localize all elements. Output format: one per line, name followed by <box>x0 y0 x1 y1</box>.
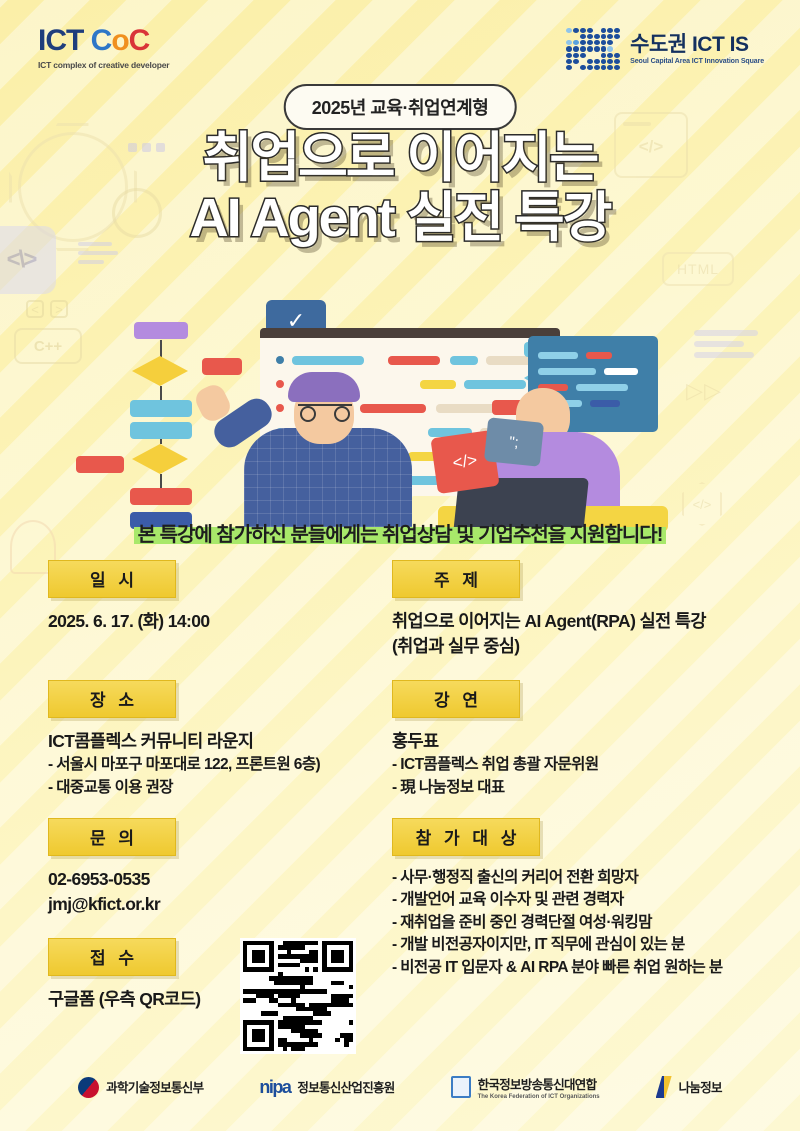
contact-email[interactable]: jmj@kfict.or.kr <box>48 892 176 917</box>
code-card-2-icon: "; <box>484 417 544 467</box>
value-datetime: 2025. 6. 17. (화) 14:00 <box>48 609 209 634</box>
program-badge: 2025년 교육·취업연계형 <box>284 84 517 130</box>
sponsor-kfict-en: The Korea Federation of ICT Organization… <box>478 1094 600 1100</box>
logo-ict-is-title: 수도권 ICT IS <box>630 34 764 55</box>
label-audience: 참 가 대 상 <box>392 818 540 856</box>
value-contact: 02-6953-0535 jmj@kfict.or.kr <box>48 867 176 918</box>
label-speaker: 강 연 <box>392 680 520 718</box>
nanum-mark-icon <box>656 1076 672 1098</box>
speaker-line-2: - 現 나눔정보 대표 <box>392 777 598 799</box>
contact-phone[interactable]: 02-6953-0535 <box>48 867 176 892</box>
hero-illustration: ✓ <box>120 300 690 530</box>
label-topic: 주 제 <box>392 560 520 598</box>
arrow-right-icon: > <box>50 300 68 318</box>
support-highlight-text: 본 특강에 참가하신 분들에게는 취업상담 및 기업추천을 지원합니다! <box>134 524 667 546</box>
label-contact: 문 의 <box>48 818 176 856</box>
registration-qr-code[interactable] <box>240 938 356 1054</box>
label-datetime: 일 시 <box>48 560 176 598</box>
venue-line-2: - 대중교통 이용 권장 <box>48 777 320 799</box>
play-arrows-icon: ▷▷ <box>686 378 722 404</box>
kfict-mark-icon <box>451 1076 471 1098</box>
poster-root: <\> < > C++ </> HTML ▷▷ </> ICT CoC ICT … <box>0 0 800 1131</box>
logo-ict-is-text: 수도권 ICT IS Seoul Capital Area ICT Innova… <box>630 34 764 65</box>
value-topic: 취업으로 이어지는 AI Agent(RPA) 실전 특강 (취업과 실무 중심… <box>392 609 706 660</box>
logo-part-o: o <box>111 24 128 57</box>
value-audience: - 사무·행정직 출신의 커리어 전환 희망자 - 개발언어 교육 이수자 및 … <box>392 867 723 979</box>
sponsor-nipa-name: 정보통신산업진흥원 <box>297 1081 394 1095</box>
logo-ict-is: 수도권 ICT IS Seoul Capital Area ICT Innova… <box>566 28 764 70</box>
text-lines-decoration-right <box>694 330 758 363</box>
illustration-person-pointing <box>220 360 430 535</box>
cpp-bubble-icon: C++ <box>14 328 82 364</box>
topic-line-1: 취업으로 이어지는 AI Agent(RPA) 실전 특강 <box>392 609 706 634</box>
registration-value: 구글폼 (우측 QR코드) <box>48 987 201 1012</box>
illustration-person-laptop: </> "; <box>450 348 680 538</box>
label-venue: 장 소 <box>48 680 176 718</box>
logo-ict-coc-wordmark: ICT CoC <box>38 26 169 56</box>
title-line-2: AI Agent 실전 특강 <box>0 188 800 248</box>
poster-title: 취업으로 이어지는 AI Agent 실전 특강 <box>0 128 800 249</box>
info-block-venue: 장 소 ICT콤플렉스 커뮤니티 라운지 - 서울시 마포구 마포대로 122,… <box>48 680 320 799</box>
logo-ict-coc-tagline: ICT complex of creative developer <box>38 60 169 70</box>
logo-ict-coc: ICT CoC ICT complex of creative develope… <box>38 26 169 70</box>
nipa-wordmark-icon: nipa <box>259 1077 290 1098</box>
sponsor-kfict-name: 한국정보방송통신대연합 <box>478 1078 597 1092</box>
info-block-datetime: 일 시 2025. 6. 17. (화) 14:00 <box>48 560 209 634</box>
audience-item-5: - 비전공 IT 입문자 & AI RPA 분야 빠른 취업 원하는 분 <box>392 957 723 979</box>
logo-part-c1: C <box>91 24 112 57</box>
speaker-line-1: - ICT콤플렉스 취업 총괄 자문위원 <box>392 754 598 776</box>
venue-line-1: - 서울시 마포구 마포대로 122, 프론트원 6층) <box>48 754 320 776</box>
info-block-topic: 주 제 취업으로 이어지는 AI Agent(RPA) 실전 특강 (취업과 실… <box>392 560 706 660</box>
value-registration: 구글폼 (우측 QR코드) <box>48 987 201 1012</box>
arrow-buttons-decoration: < > <box>26 300 68 318</box>
logo-part-c2: C <box>129 24 150 57</box>
info-block-contact: 문 의 02-6953-0535 jmj@kfict.or.kr <box>48 818 176 918</box>
qr-code-matrix <box>243 941 353 1051</box>
datetime-value: 2025. 6. 17. (화) 14:00 <box>48 609 209 634</box>
speaker-name: 홍두표 <box>392 729 598 754</box>
value-venue: ICT콤플렉스 커뮤니티 라운지 - 서울시 마포구 마포대로 122, 프론트… <box>48 729 320 799</box>
audience-item-4: - 개발 비전공자이지만, IT 직무에 관심이 있는 분 <box>392 934 723 956</box>
value-speaker: 홍두표 - ICT콤플렉스 취업 총괄 자문위원 - 現 나눔정보 대표 <box>392 729 598 799</box>
logo-part-ict: ICT <box>38 24 83 57</box>
audience-item-3: - 재취업을 준비 중인 경력단절 여성·워킹맘 <box>392 912 723 934</box>
sponsor-nanum: 나눔정보 <box>656 1076 722 1098</box>
footer-sponsors: 과학기술정보통신부 nipa 정보통신산업진흥원 한국정보방송통신대연합 The… <box>0 1059 800 1115</box>
info-block-speaker: 강 연 홍두표 - ICT콤플렉스 취업 총괄 자문위원 - 現 나눔정보 대표 <box>392 680 598 799</box>
taegeuk-icon <box>78 1077 99 1098</box>
label-registration: 접 수 <box>48 938 176 976</box>
sponsor-nipa: nipa 정보통신산업진흥원 <box>259 1077 394 1098</box>
info-section: 일 시 2025. 6. 17. (화) 14:00 장 소 ICT콤플렉스 커… <box>0 560 800 1020</box>
topic-line-2: (취업과 실무 중심) <box>392 634 706 659</box>
sponsor-kfict: 한국정보방송통신대연합 The Korea Federation of ICT … <box>451 1074 600 1100</box>
sponsor-msit: 과학기술정보통신부 <box>78 1077 203 1098</box>
arrow-left-icon: < <box>26 300 44 318</box>
logo-ict-is-subtitle: Seoul Capital Area ICT Innovation Square <box>630 58 764 65</box>
html-bubble-icon: HTML <box>662 252 734 286</box>
title-line-1: 취업으로 이어지는 <box>0 128 800 188</box>
venue-lead: ICT콤플렉스 커뮤니티 라운지 <box>48 729 320 754</box>
logo-dot-matrix-icon <box>566 28 620 70</box>
audience-item-2: - 개발언어 교육 이수자 및 관련 경력자 <box>392 889 723 911</box>
sponsor-msit-name: 과학기술정보통신부 <box>106 1081 203 1095</box>
info-block-audience: 참 가 대 상 - 사무·행정직 출신의 커리어 전환 희망자 - 개발언어 교… <box>392 818 723 979</box>
sponsor-nanum-name: 나눔정보 <box>679 1081 722 1095</box>
support-highlight: 본 특강에 참가하신 분들에게는 취업상담 및 기업추천을 지원합니다! <box>0 518 800 547</box>
audience-item-1: - 사무·행정직 출신의 커리어 전환 희망자 <box>392 867 723 889</box>
info-block-registration: 접 수 구글폼 (우측 QR코드) <box>48 938 201 1012</box>
